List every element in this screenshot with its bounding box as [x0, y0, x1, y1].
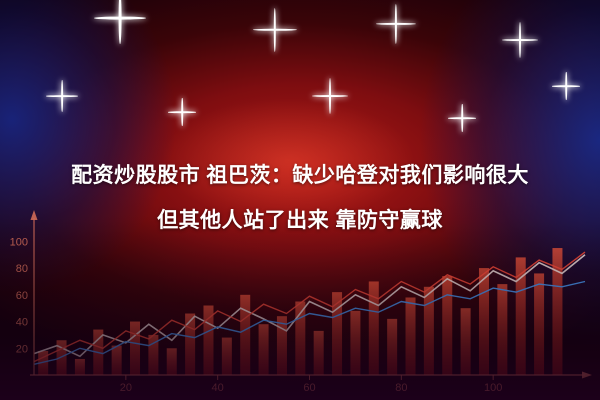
image-canvas: 2040608010020406080100 配资炒股股市 祖巴茨：缺少哈登对我… — [0, 0, 600, 400]
headline-line-2: 但其他人站了出来 靠防守赢球 — [0, 200, 600, 242]
headline-line-1: 配资炒股股市 祖巴茨：缺少哈登对我们影响很大 — [0, 155, 600, 197]
